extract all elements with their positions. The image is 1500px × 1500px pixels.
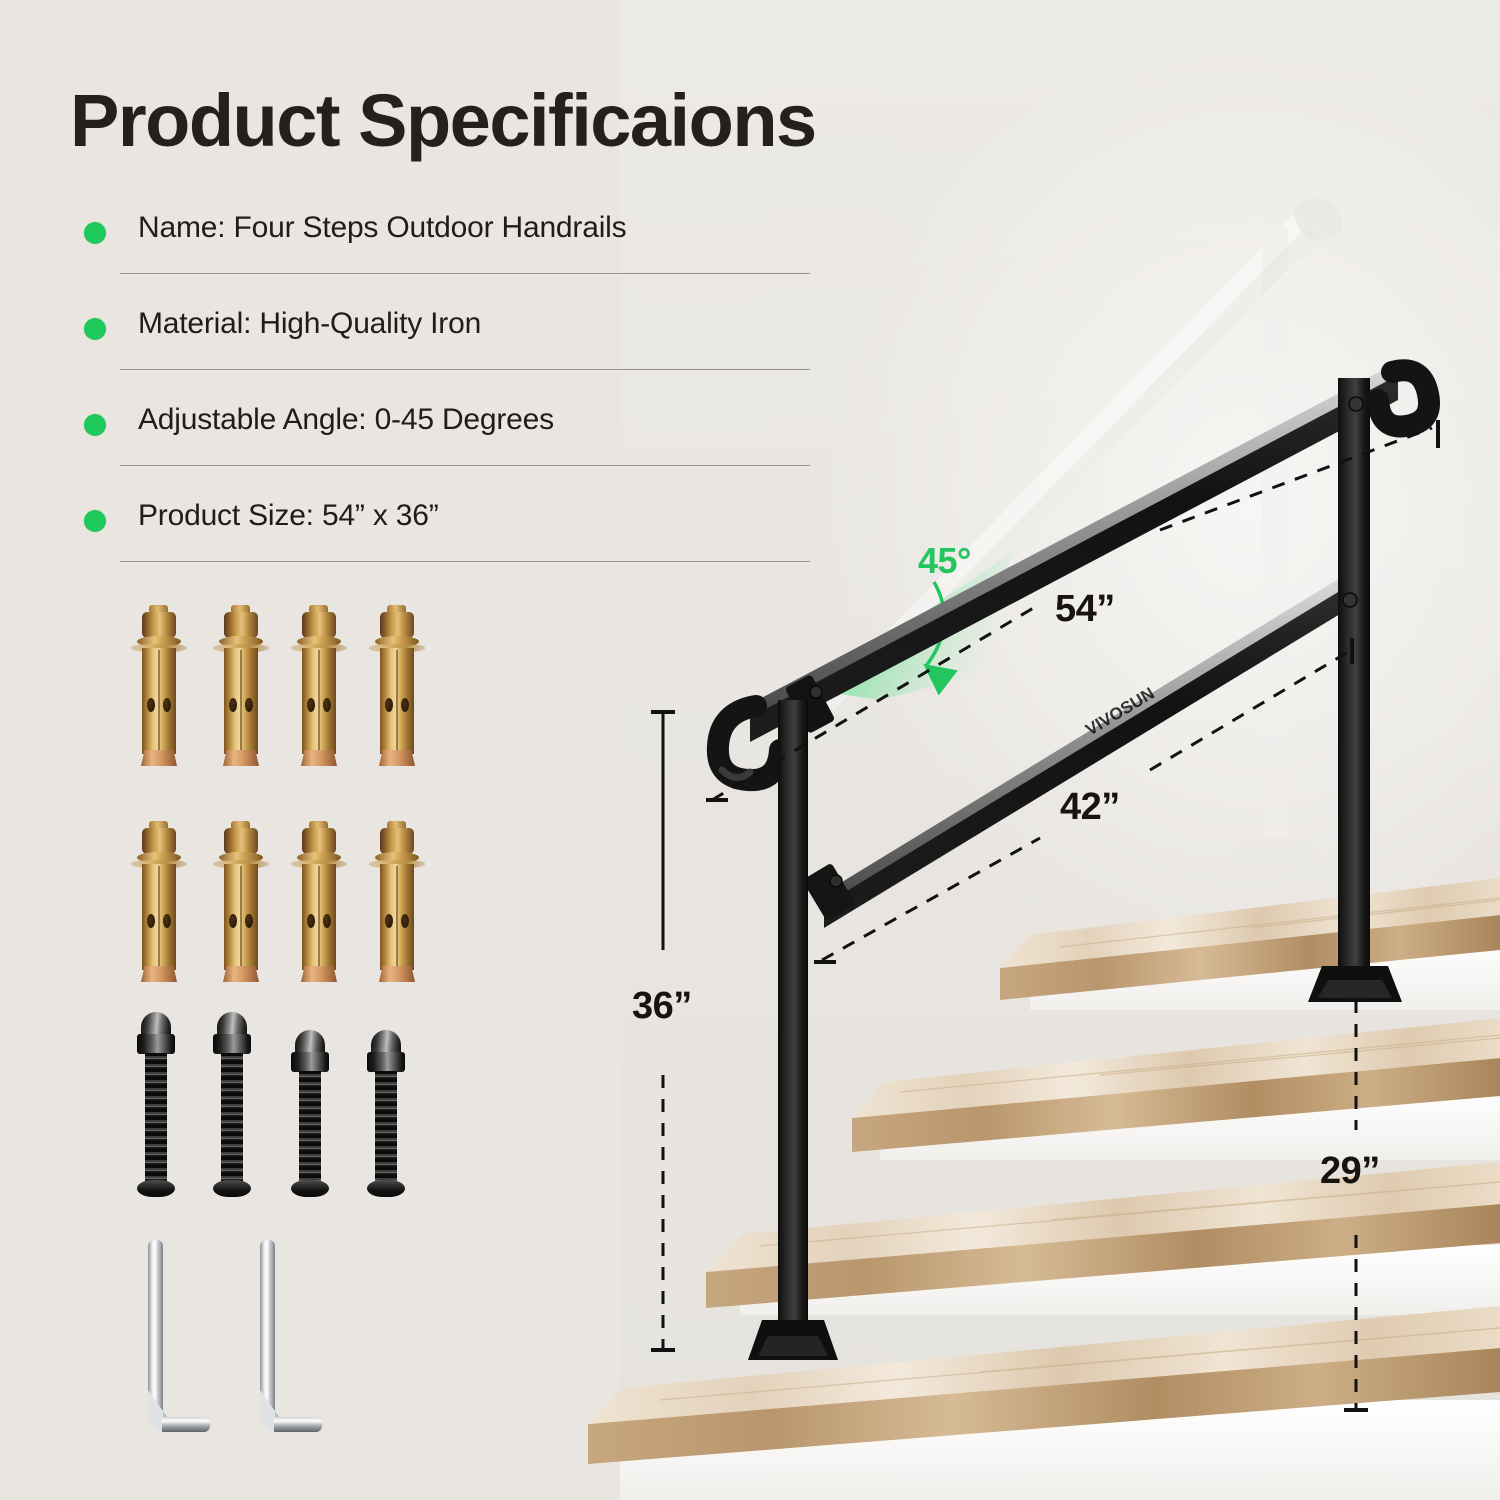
dome-cap-bolt — [284, 1028, 336, 1228]
expansion-anchor-bolt — [212, 602, 270, 772]
expansion-anchor-bolt — [290, 818, 348, 988]
page-title: Product Specificaions — [70, 78, 816, 163]
expansion-anchor-bolt — [130, 602, 188, 772]
dome-cap-bolt — [206, 1010, 258, 1210]
dimension-label-bottom-rail: 42” — [1060, 786, 1120, 829]
spec-divider — [120, 465, 810, 466]
dimension-label-post-height: 36” — [632, 985, 692, 1028]
expansion-anchor-bolt — [212, 818, 270, 988]
spec-row: Name: Four Steps Outdoor Handrails — [70, 205, 770, 301]
expansion-anchor-bolt — [130, 818, 188, 988]
spec-divider — [120, 369, 810, 370]
spec-row: Material: High-Quality Iron — [70, 301, 770, 397]
spec-label-angle: Adjustable Angle: 0-45 Degrees — [138, 403, 554, 437]
green-dot-icon — [84, 414, 106, 436]
dimension-label-rise: 29” — [1320, 1150, 1380, 1193]
spec-label-size: Product Size: 54” x 36” — [138, 499, 439, 533]
hardware-kit — [0, 560, 620, 1500]
dimension-label-angle: 45° — [918, 540, 971, 582]
green-dot-icon — [84, 318, 106, 340]
spec-divider — [120, 273, 810, 274]
dome-cap-bolt — [130, 1010, 182, 1210]
product-spec-page: VIVOSUN — [0, 0, 1500, 1500]
green-dot-icon — [84, 222, 106, 244]
expansion-anchor-bolt — [368, 818, 426, 988]
spec-label-material: Material: High-Quality Iron — [138, 307, 481, 341]
hex-key-wrench — [250, 1240, 328, 1440]
hex-key-wrench — [138, 1240, 216, 1440]
expansion-anchor-bolt — [368, 602, 426, 772]
spec-row: Adjustable Angle: 0-45 Degrees — [70, 397, 770, 493]
dome-cap-bolt — [360, 1028, 412, 1228]
dimension-label-top-rail: 54” — [1055, 588, 1115, 631]
spec-label-name: Name: Four Steps Outdoor Handrails — [138, 211, 626, 245]
spec-list: Name: Four Steps Outdoor Handrails Mater… — [70, 205, 770, 589]
green-dot-icon — [84, 510, 106, 532]
expansion-anchor-bolt — [290, 602, 348, 772]
